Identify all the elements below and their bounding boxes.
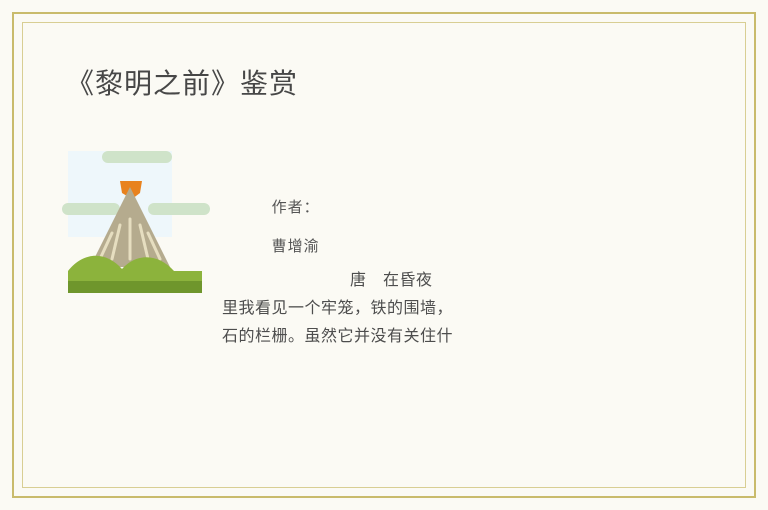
author-line: 作者： 曹增渝: [237, 178, 332, 274]
document-content: 《黎明之前》鉴赏: [0, 0, 768, 510]
author-label: 作者：: [272, 198, 320, 216]
body-text: 唐 在昏夜 里我看见一个牢笼，铁的围墙， 石的栏栅。虽然它并没有关住什: [222, 266, 652, 350]
body-line: 里我看见一个牢笼，铁的围墙，: [222, 294, 652, 322]
body-line: 唐 在昏夜: [222, 266, 652, 294]
author-name: 曹增渝: [272, 237, 320, 255]
page-title: 《黎明之前》鉴赏: [66, 62, 298, 102]
document-page: 《黎明之前》鉴赏: [0, 0, 768, 510]
body-line: 石的栏栅。虽然它并没有关住什: [222, 322, 652, 350]
volcano-illustration: [62, 147, 210, 297]
